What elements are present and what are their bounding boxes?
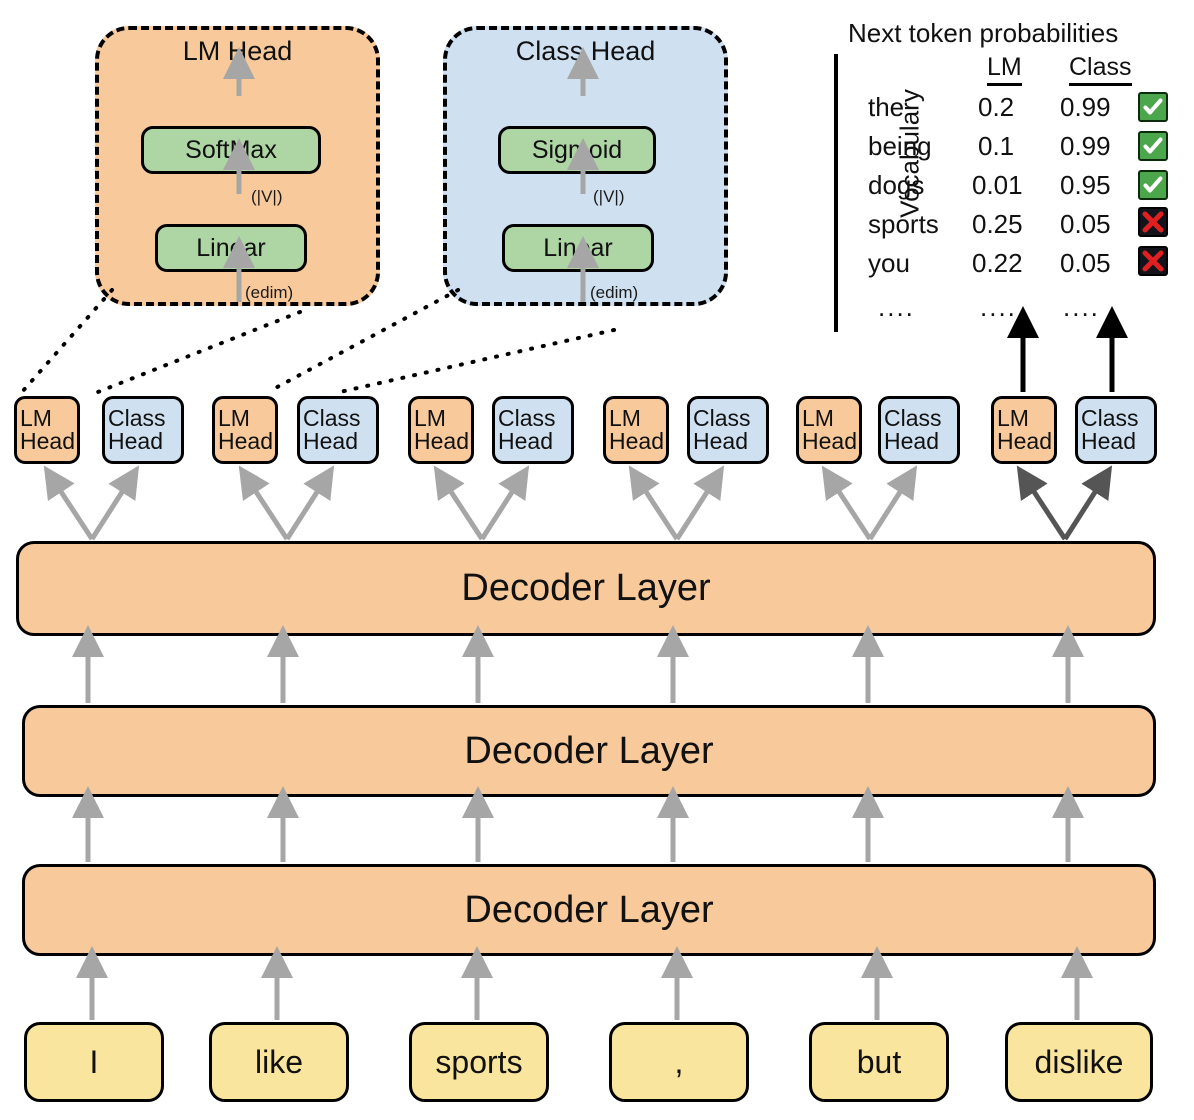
status-badge-cross <box>1138 207 1168 237</box>
lm-head-label-line1: LM <box>997 407 1029 430</box>
lm-head-label-line1: LM <box>802 407 834 430</box>
class-head-label-line1: Class <box>303 407 361 430</box>
lm-head-softmax-block: SoftMax <box>141 126 321 174</box>
class-head-label-line2: Head <box>693 430 748 453</box>
class-head-label-line1: Class <box>1081 407 1139 430</box>
vocab-token: sports <box>868 209 939 240</box>
decoder-layer-2[interactable]: Decoder Layer <box>22 705 1156 797</box>
input-token-box[interactable]: sports <box>409 1022 549 1102</box>
lm-head-label-line1: LM <box>218 407 250 430</box>
lm-head-label-line2: Head <box>414 430 469 453</box>
table-vertical-rule <box>834 54 838 332</box>
class-head-sigmoid-block: Sigmoid <box>498 126 656 174</box>
class-head-label-line1: Class <box>884 407 942 430</box>
lm-head-linear-block: Linear <box>155 224 307 272</box>
input-token-box[interactable]: like <box>209 1022 349 1102</box>
lm-head-box[interactable]: LM Head <box>212 396 278 464</box>
input-token-box[interactable]: but <box>809 1022 949 1102</box>
lm-head-box[interactable]: LM Head <box>14 396 80 464</box>
input-token-label: like <box>255 1044 303 1081</box>
lm-probability: 0.2 <box>978 92 1014 123</box>
input-token-label: sports <box>435 1044 522 1081</box>
cross-icon <box>1141 249 1165 273</box>
input-token-label: dislike <box>1035 1044 1124 1081</box>
vocab-ellipsis: .... <box>878 292 915 323</box>
vocab-token: the <box>868 92 904 123</box>
input-token-label: but <box>857 1044 901 1081</box>
vocab-token: you <box>868 248 910 279</box>
class-probability: 0.99 <box>1060 131 1111 162</box>
column-header-lm: LM <box>987 53 1022 86</box>
class-probability: 0.05 <box>1060 248 1111 279</box>
status-badge-check <box>1138 92 1168 122</box>
lm-head-label-line2: Head <box>20 430 75 453</box>
lm-head-box[interactable]: LM Head <box>603 396 669 464</box>
class-head-sigmoid-label: Sigmoid <box>532 136 622 165</box>
status-badge-check <box>1138 170 1168 200</box>
lm-head-v-dim-label: (|V|) <box>251 187 283 207</box>
class-head-label-line2: Head <box>1081 430 1136 453</box>
column-header-class: Class <box>1069 53 1132 86</box>
lm-head-box[interactable]: LM Head <box>408 396 474 464</box>
class-probability: 0.99 <box>1060 92 1111 123</box>
lm-head-label-line1: LM <box>414 407 446 430</box>
tokens-to-decoder-arrows <box>92 961 1077 1020</box>
class-head-label-line1: Class <box>108 407 166 430</box>
decoder-layer-label: Decoder Layer <box>464 889 713 932</box>
prob-table-title: Next token probabilities <box>848 18 1118 49</box>
class-head-label-line2: Head <box>884 430 939 453</box>
status-badge-cross <box>1138 246 1168 276</box>
class-head-edim-label: (edim) <box>590 283 638 303</box>
class-head-label-line1: Class <box>693 407 751 430</box>
class-head-box[interactable]: Class Head <box>1075 396 1157 464</box>
lm-probability: 0.01 <box>972 170 1023 201</box>
class-probability: 0.05 <box>1060 209 1111 240</box>
lm-probability: 0.22 <box>972 248 1023 279</box>
lm-probability: 0.1 <box>978 131 1014 162</box>
class-probability: 0.95 <box>1060 170 1111 201</box>
class-head-label-line2: Head <box>303 430 358 453</box>
check-icon <box>1142 135 1164 157</box>
class-head-box[interactable]: Class Head <box>492 396 574 464</box>
lm-head-label-line2: Head <box>997 430 1052 453</box>
lm-head-linear-label: Linear <box>196 234 266 263</box>
lm-head-edim-label: (edim) <box>245 283 293 303</box>
class-head-linear-label: Linear <box>543 234 613 263</box>
lm-head-detail-title: LM Head <box>99 36 376 67</box>
check-icon <box>1142 96 1164 118</box>
lm-head-label-line1: LM <box>609 407 641 430</box>
lm-head-label-line2: Head <box>802 430 857 453</box>
lm-head-softmax-label: SoftMax <box>185 136 277 165</box>
class-head-label-line2: Head <box>498 430 553 453</box>
class-head-v-dim-label: (|V|) <box>593 187 625 207</box>
lm-probability: 0.25 <box>972 209 1023 240</box>
lm-ellipsis: .... <box>980 292 1017 323</box>
class-head-box[interactable]: Class Head <box>102 396 184 464</box>
input-token-box[interactable]: , <box>609 1022 749 1102</box>
status-badge-check <box>1138 131 1168 161</box>
decoder-layer-label: Decoder Layer <box>464 730 713 773</box>
decoder-to-heads-arrows <box>52 478 909 539</box>
vocab-token: dogs <box>868 170 924 201</box>
class-head-detail-title: Class Head <box>447 36 724 67</box>
next-token-probability-table: Next token probabilities Vocabulary LM C… <box>820 8 1194 348</box>
decoder-layer-1[interactable]: Decoder Layer <box>22 864 1156 956</box>
lm-head-label-line2: Head <box>218 430 273 453</box>
lm-head-label-line2: Head <box>609 430 664 453</box>
class-head-label-line1: Class <box>498 407 556 430</box>
lm-head-detail-panel: LM Head SoftMax (|V|) Linear (edim) <box>95 26 380 306</box>
class-head-box[interactable]: Class Head <box>297 396 379 464</box>
diagram-canvas: LM Head SoftMax (|V|) Linear (edim) Clas… <box>0 0 1194 1120</box>
input-token-box[interactable]: dislike <box>1005 1022 1153 1102</box>
class-head-label-line2: Head <box>108 430 163 453</box>
check-icon <box>1142 174 1164 196</box>
decoder-layer-label: Decoder Layer <box>461 567 710 610</box>
decoder-layer-3[interactable]: Decoder Layer <box>16 541 1156 636</box>
input-token-label: , <box>675 1044 684 1081</box>
lm-head-label-line1: LM <box>20 407 52 430</box>
cross-icon <box>1141 210 1165 234</box>
vocab-token: being <box>868 131 932 162</box>
lm-head-box[interactable]: LM Head <box>796 396 862 464</box>
class-head-box[interactable]: Class Head <box>687 396 769 464</box>
class-ellipsis: .... <box>1063 292 1100 323</box>
class-head-detail-panel: Class Head Sigmoid (|V|) Linear (edim) <box>443 26 728 306</box>
class-head-box[interactable]: Class Head <box>878 396 960 464</box>
class-head-linear-block: Linear <box>502 224 654 272</box>
input-token-box[interactable]: I <box>24 1022 164 1102</box>
decoder-to-last-heads-arrows <box>1025 478 1104 539</box>
lm-head-box[interactable]: LM Head <box>991 396 1057 464</box>
input-token-label: I <box>90 1044 99 1081</box>
